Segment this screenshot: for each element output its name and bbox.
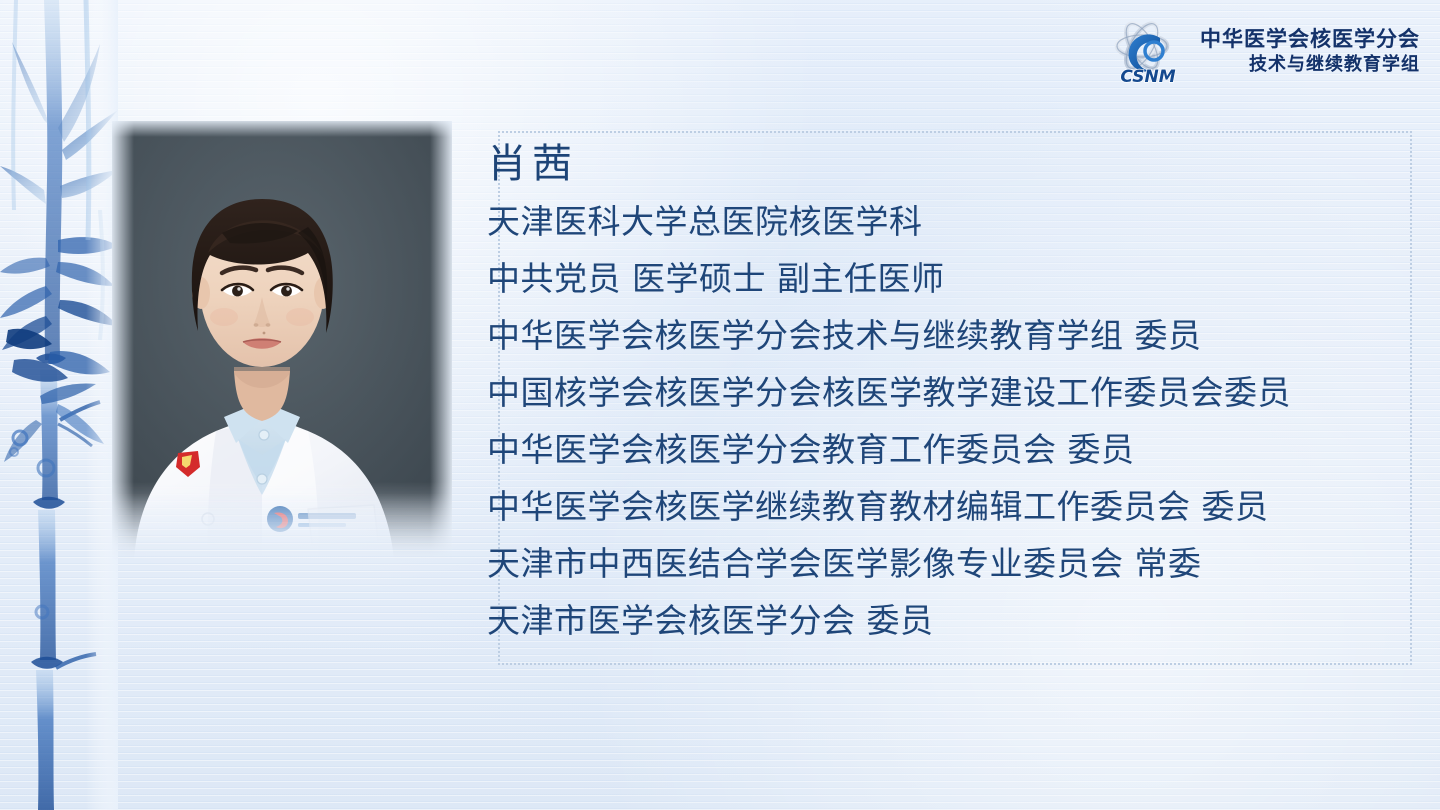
- speaker-title-6: 天津市医学会核医学分会 委员: [487, 592, 1407, 649]
- csnm-brand-lockup: CSNM 中华医学会核医学分会 技术与继续教育学组: [1108, 14, 1420, 88]
- csnm-society-name: 中华医学会核医学分会: [1200, 27, 1420, 51]
- speaker-title-5: 天津市中西医结合学会医学影像专业委员会 常委: [487, 535, 1407, 592]
- speaker-title-2: 中国核学会核医学分会核医学教学建设工作委员会委员: [487, 364, 1383, 421]
- svg-text:CSNM: CSNM: [1120, 67, 1175, 87]
- csnm-group-name: 技术与继续教育学组: [1249, 54, 1420, 75]
- speaker-credentials: 中共党员 医学硕士 副主任医师: [487, 250, 1407, 307]
- csnm-brand-text: 中华医学会核医学分会 技术与继续教育学组: [1200, 27, 1420, 75]
- speaker-title-3: 中华医学会核医学分会教育工作委员会 委员: [487, 421, 1407, 478]
- speaker-affiliation: 天津医科大学总医院核医学科: [487, 193, 1407, 250]
- blue-ink-bamboo-illustration: [0, 0, 118, 810]
- speaker-info-block: 肖茜 天津医科大学总医院核医学科 中共党员 医学硕士 副主任医师 中华医学会核医…: [487, 136, 1407, 649]
- speaker-title-1: 中华医学会核医学分会技术与继续教育学组 委员: [487, 307, 1407, 364]
- speaker-name: 肖茜: [487, 136, 1407, 193]
- slide-root: 肖茜 天津医科大学总医院核医学科 中共党员 医学硕士 副主任医师 中华医学会核医…: [0, 0, 1440, 810]
- speaker-portrait-photo: [112, 121, 452, 561]
- csnm-atom-logo: CSNM: [1108, 14, 1190, 88]
- speaker-title-4: 中华医学会核医学继续教育教材编辑工作委员会 委员: [487, 478, 1407, 535]
